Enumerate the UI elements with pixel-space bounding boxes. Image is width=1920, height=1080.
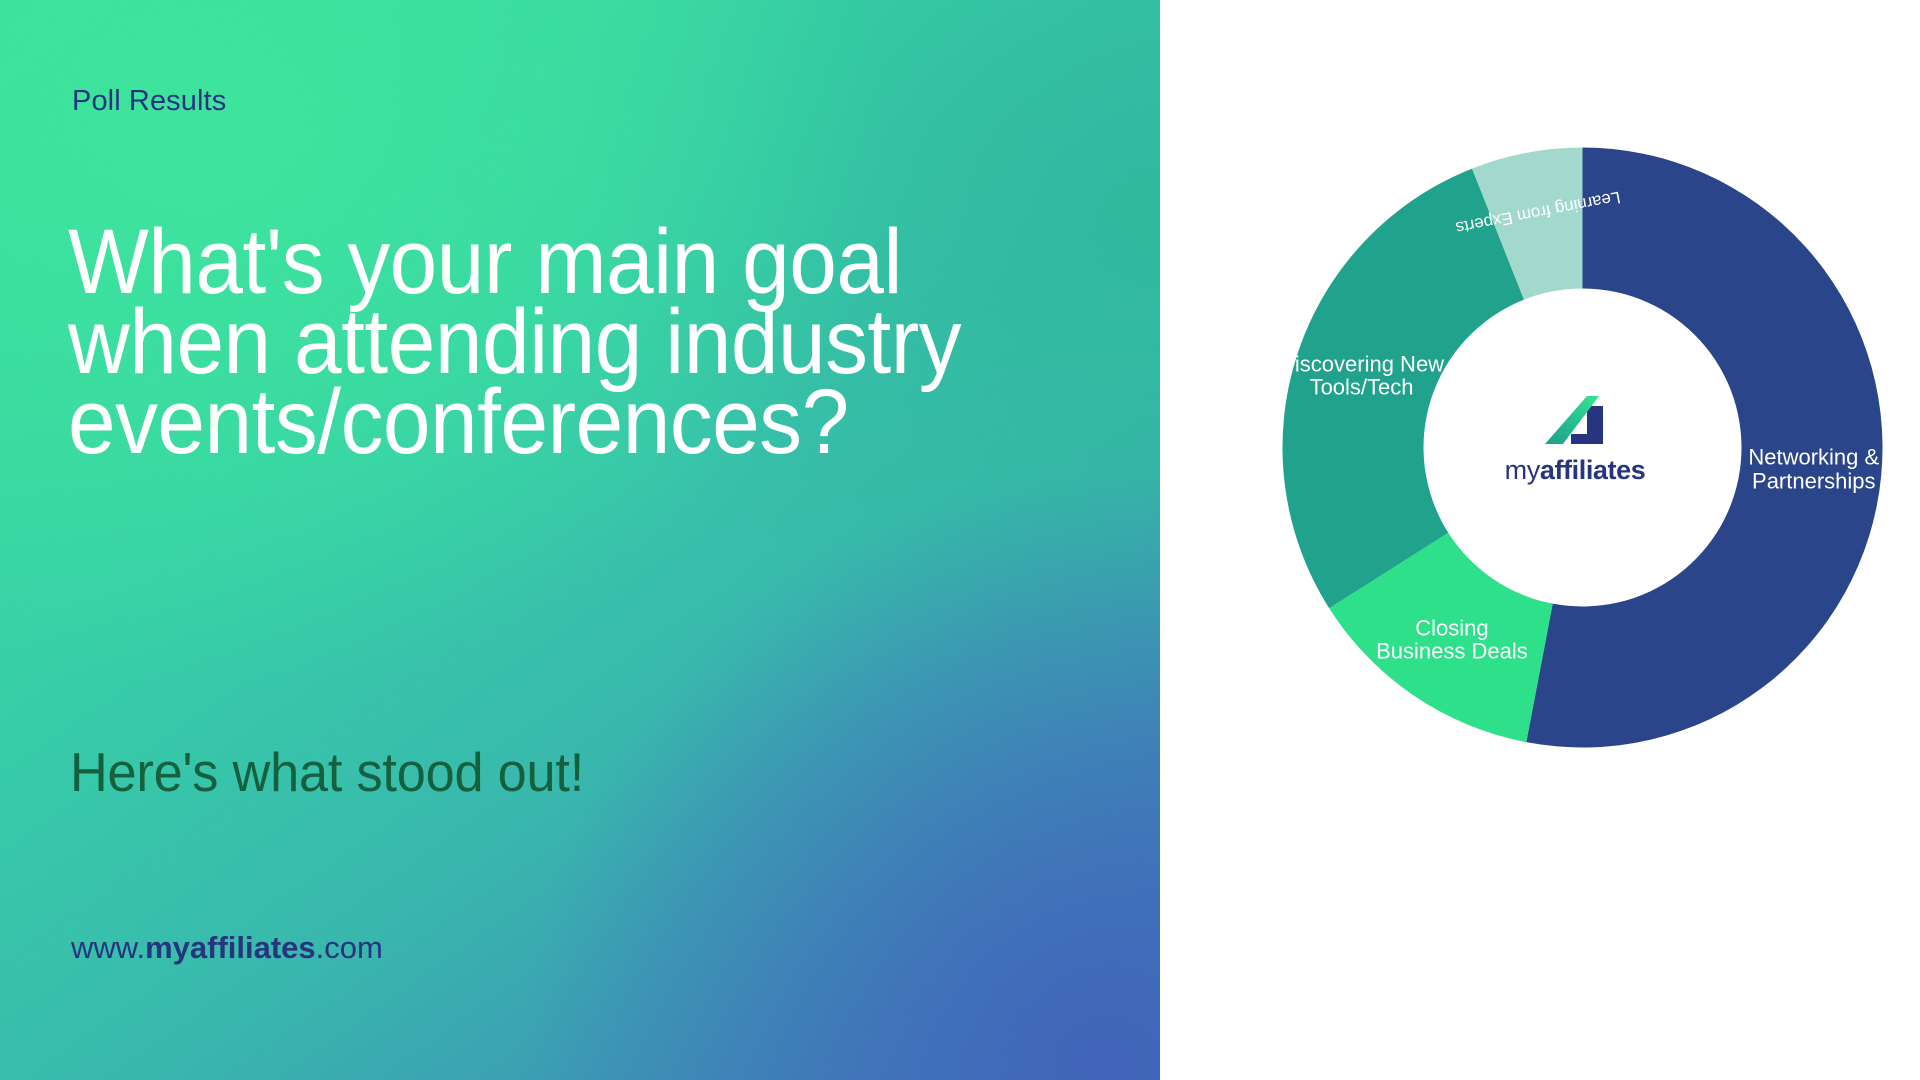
slide-canvas: Poll Results What's your main goal when … — [0, 0, 1920, 1080]
page-title: What's your main goal when attending ind… — [68, 222, 1007, 462]
logo-wordmark: myaffiliates — [1425, 455, 1725, 486]
logo-word-bold: affiliates — [1540, 455, 1646, 485]
myaffiliates-logo-mark-icon — [1541, 394, 1609, 448]
website-url[interactable]: www.myaffiliates.com — [71, 930, 383, 966]
url-suffix: .com — [316, 930, 383, 965]
eyebrow-poll-results: Poll Results — [72, 85, 226, 118]
donut-slice[interactable] — [1283, 169, 1524, 609]
center-logo: myaffiliates — [1425, 394, 1725, 486]
left-gradient-panel: Poll Results What's your main goal when … — [0, 0, 1160, 1080]
logo-word-light: my — [1505, 455, 1540, 485]
subheading: Here's what stood out! — [70, 745, 584, 800]
url-prefix: www. — [71, 930, 145, 965]
url-brand: myaffiliates — [145, 930, 316, 965]
chart-panel — [1160, 0, 1920, 1080]
grain-texture-overlay — [0, 0, 1160, 1080]
